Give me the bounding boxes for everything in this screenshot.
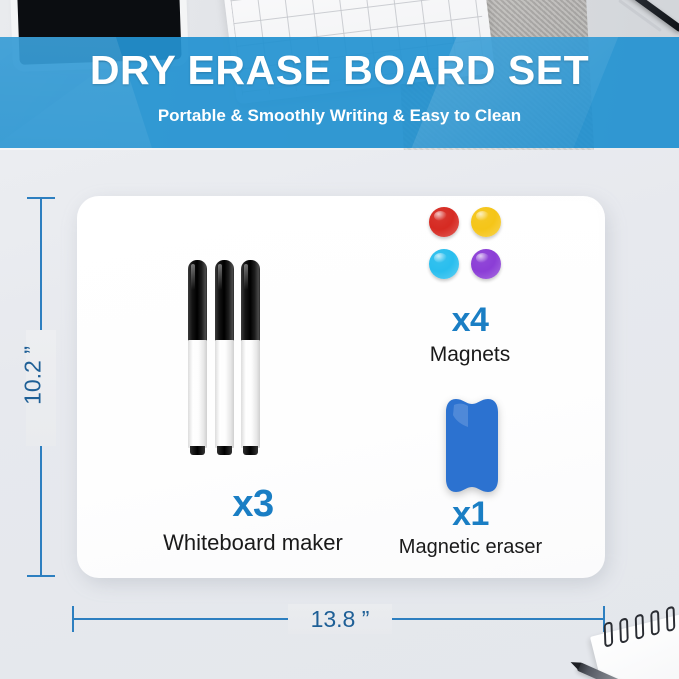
marker-tail — [243, 446, 258, 455]
eraser-caption: Magnetic eraser — [383, 537, 558, 557]
magnet-group — [429, 207, 501, 279]
spiral-notebook — [587, 592, 679, 679]
spiral-ring — [666, 606, 676, 633]
magnet-cyan — [429, 249, 459, 279]
marker-tail — [190, 446, 205, 455]
marker-2 — [215, 260, 234, 455]
magnet-red — [429, 207, 459, 237]
height-dimension-cap-bottom — [27, 575, 55, 577]
markers-caption: Whiteboard maker — [128, 532, 378, 554]
height-dimension-cap-top — [27, 197, 55, 199]
magnet-yellow — [471, 207, 501, 237]
banner-title: DRY ERASE BOARD SET — [0, 50, 679, 91]
marker-barrel — [215, 340, 234, 448]
marker-1 — [188, 260, 207, 455]
markers-label: x3 Whiteboard maker — [128, 485, 378, 554]
product-infographic: DRY ERASE BOARD SET Portable & Smoothly … — [0, 0, 679, 679]
width-dimension-label: 13.8 ” — [280, 606, 400, 633]
magnets-caption: Magnets — [380, 344, 560, 365]
marker-barrel — [241, 340, 260, 448]
marker-cap — [215, 260, 234, 342]
magnets-label: x4 Magnets — [380, 303, 560, 365]
height-dimension-label: 10.2 ” — [20, 316, 47, 436]
marker-cap — [188, 260, 207, 342]
marker-3 — [241, 260, 260, 455]
banner-divider — [0, 148, 679, 150]
spiral-ring — [619, 617, 629, 644]
width-dimension-cap-left — [72, 606, 74, 632]
marker-tail — [217, 446, 232, 455]
markers-quantity: x3 — [128, 485, 378, 523]
marker-barrel — [188, 340, 207, 448]
eraser-label: x1 Magnetic eraser — [383, 497, 558, 557]
magnets-quantity: x4 — [380, 303, 560, 337]
magnetic-eraser — [444, 397, 500, 494]
marker-group — [188, 260, 260, 455]
magnet-purple — [471, 249, 501, 279]
spiral-ring — [650, 609, 660, 636]
eraser-quantity: x1 — [383, 497, 558, 531]
banner-subtitle: Portable & Smoothly Writing & Easy to Cl… — [0, 107, 679, 124]
spiral-ring — [604, 621, 614, 648]
spiral-ring — [635, 613, 645, 640]
header-banner: DRY ERASE BOARD SET Portable & Smoothly … — [0, 37, 679, 148]
marker-cap — [241, 260, 260, 342]
